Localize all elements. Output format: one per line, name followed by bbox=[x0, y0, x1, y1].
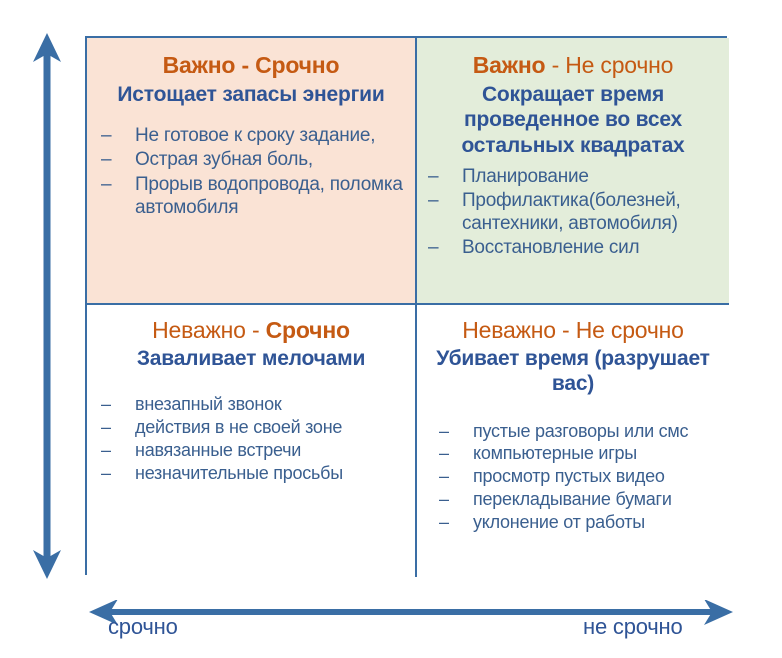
list-item: –Не готовое к сроку задание, bbox=[101, 124, 407, 147]
quadrant-item-list: –внезапный звонок –действия в не своей з… bbox=[101, 394, 415, 485]
axis-label-urgent: срочно bbox=[108, 614, 178, 640]
list-item: –незначительные просьбы bbox=[101, 463, 415, 485]
list-item-text: Планирование bbox=[462, 166, 589, 187]
list-item-text: действия в не своей зоне bbox=[135, 417, 342, 437]
quadrant-subtitle: Заваливает мелочами bbox=[87, 346, 415, 371]
list-item: –действия в не своей зоне bbox=[101, 417, 415, 439]
dash-bullet-icon: – bbox=[101, 440, 111, 462]
list-item-text: Не готовое к сроку задание, bbox=[135, 125, 375, 146]
vertical-double-arrow-icon bbox=[30, 32, 64, 580]
dash-bullet-icon: – bbox=[101, 417, 111, 439]
list-item-text: уклонение от работы bbox=[473, 512, 645, 532]
quadrant-item-list: –Не готовое к сроку задание, –Острая зуб… bbox=[101, 124, 407, 219]
quadrant-not-important-not-urgent[interactable]: Неважно - Не срочно Убивает время (разру… bbox=[417, 305, 729, 577]
quadrant-subtitle: Сокращает время проведенное во всех оста… bbox=[417, 82, 729, 158]
quadrant-title-regular: - Не срочно bbox=[545, 52, 673, 78]
quadrant-title-regular: Неважно - Не срочно bbox=[462, 317, 684, 343]
quadrant-title-bold: Срочно bbox=[266, 317, 350, 343]
dash-bullet-icon: – bbox=[439, 466, 449, 488]
list-item: –Острая зубная боль, bbox=[101, 148, 407, 171]
dash-bullet-icon: – bbox=[101, 463, 111, 485]
dash-bullet-icon: – bbox=[428, 165, 438, 188]
list-item-text: Острая зубная боль, bbox=[135, 149, 313, 170]
quadrant-subtitle: Убивает время (разрушает вас) bbox=[417, 346, 729, 396]
list-item: –Планирование bbox=[428, 165, 725, 188]
dash-bullet-icon: – bbox=[428, 236, 438, 259]
dash-bullet-icon: – bbox=[439, 489, 449, 511]
list-item: –Профилактика(болезней, сантехники, авто… bbox=[428, 189, 725, 235]
list-item-text: компьютерные игры bbox=[473, 443, 637, 463]
quadrant-important-not-urgent[interactable]: Важно - Не срочно Сокращает время провед… bbox=[417, 38, 729, 305]
quadrant-item-list: –пустые разговоры или смс –компьютерные … bbox=[439, 421, 729, 535]
dash-bullet-icon: – bbox=[439, 512, 449, 534]
list-item-text: незначительные просьбы bbox=[135, 463, 343, 483]
quadrant-important-urgent[interactable]: Важно - Срочно Истощает запасы энергии –… bbox=[87, 38, 417, 305]
dash-bullet-icon: – bbox=[101, 148, 111, 171]
list-item-text: просмотр пустых видео bbox=[473, 466, 665, 486]
dash-bullet-icon: – bbox=[101, 394, 111, 416]
quadrant-title-regular: Неважно - bbox=[152, 317, 265, 343]
axis-label-not-urgent: не срочно bbox=[583, 614, 683, 640]
eisenhower-matrix: Важно - Срочно Истощает запасы энергии –… bbox=[85, 36, 727, 575]
dash-bullet-icon: – bbox=[428, 189, 438, 212]
list-item: –просмотр пустых видео bbox=[439, 466, 729, 488]
list-item: –перекладывание бумаги bbox=[439, 489, 729, 511]
list-item: –навязанные встречи bbox=[101, 440, 415, 462]
dash-bullet-icon: – bbox=[439, 443, 449, 465]
list-item-text: перекладывание бумаги bbox=[473, 489, 672, 509]
list-item-text: внезапный звонок bbox=[135, 394, 282, 414]
list-item-text: навязанные встречи bbox=[135, 440, 301, 460]
list-item: –внезапный звонок bbox=[101, 394, 415, 416]
list-item: –пустые разговоры или смс bbox=[439, 421, 729, 443]
quadrant-title: Важно - Не срочно bbox=[417, 52, 729, 79]
list-item: –Прорыв водопровода, поломка автомобиля bbox=[101, 173, 407, 219]
list-item: –Восстановление сил bbox=[428, 236, 725, 259]
list-item-text: пустые разговоры или смс bbox=[473, 421, 688, 441]
quadrant-title: Неважно - Срочно bbox=[87, 317, 415, 344]
dash-bullet-icon: – bbox=[101, 124, 111, 147]
quadrant-title-bold: Важно bbox=[473, 52, 546, 78]
list-item: –уклонение от работы bbox=[439, 512, 729, 534]
dash-bullet-icon: – bbox=[101, 173, 111, 196]
quadrant-title-bold: Важно - Срочно bbox=[163, 52, 340, 78]
list-item-text: Восстановление сил bbox=[462, 237, 639, 258]
quadrant-title: Неважно - Не срочно bbox=[417, 317, 729, 344]
quadrant-subtitle: Истощает запасы энергии bbox=[87, 82, 415, 107]
dash-bullet-icon: – bbox=[439, 421, 449, 443]
quadrant-title: Важно - Срочно bbox=[87, 52, 415, 79]
list-item-text: Профилактика(болезней, сантехники, автом… bbox=[462, 190, 681, 234]
quadrant-not-important-urgent[interactable]: Неважно - Срочно Заваливает мелочами –вн… bbox=[87, 305, 417, 577]
list-item-text: Прорыв водопровода, поломка автомобиля bbox=[135, 174, 403, 218]
list-item: –компьютерные игры bbox=[439, 443, 729, 465]
quadrant-item-list: –Планирование –Профилактика(болезней, са… bbox=[428, 165, 725, 260]
importance-axis-arrow bbox=[30, 32, 64, 580]
